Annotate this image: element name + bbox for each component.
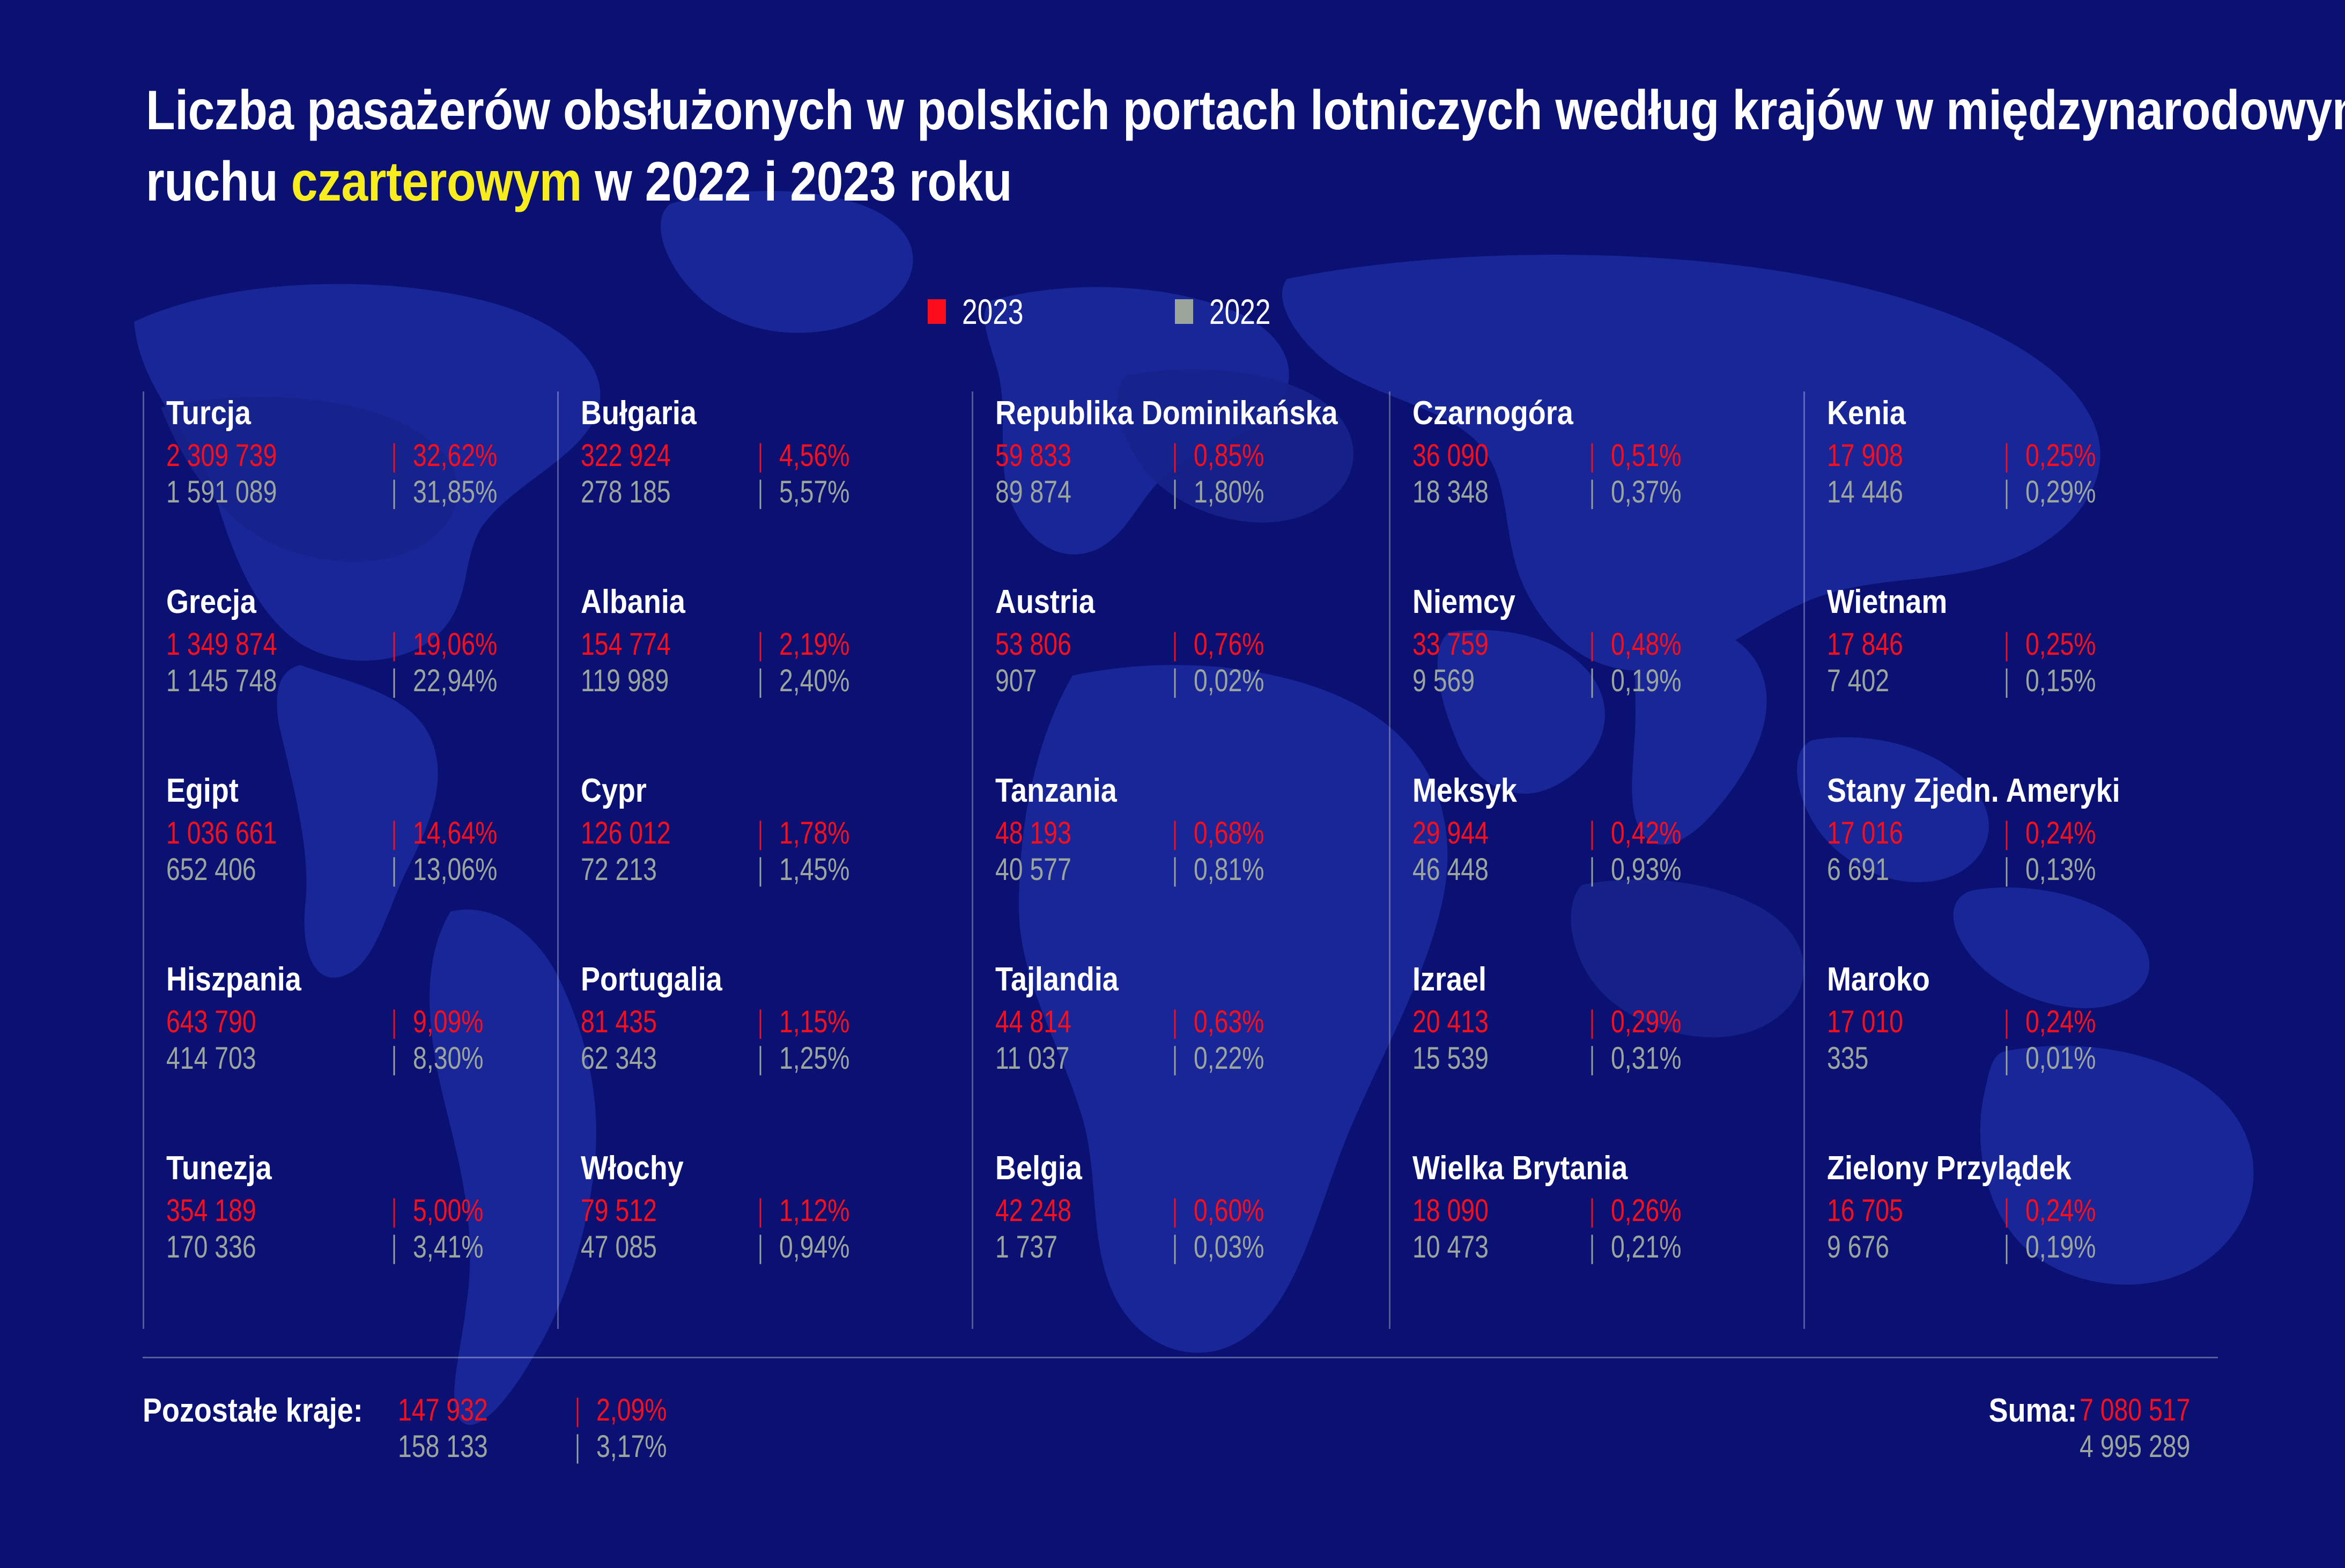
value-2022: 6 691 [1827, 852, 1956, 888]
value-2022: 40 577 [995, 852, 1124, 888]
value-2023: 17 016 [1827, 815, 1956, 852]
value-2022: 414 703 [166, 1040, 334, 1077]
percent-2023: 0,68% [1194, 815, 1264, 852]
country-row-2022: 10 473 | 0,21% [1412, 1229, 1803, 1266]
percent-2023: 1,78% [779, 815, 850, 852]
value-2022: 1 737 [995, 1229, 1124, 1266]
country-row-2022: 414 703 | 8,30% [166, 1040, 557, 1077]
country-row-2023: 36 090 | 0,51% [1412, 438, 1803, 474]
country-name: Niemcy [1412, 586, 1752, 619]
separator: | [1995, 474, 2018, 511]
value-2023: 354 189 [166, 1193, 334, 1229]
percent-2022: 3,17% [596, 1429, 667, 1465]
percent-2022: 0,01% [2025, 1040, 2096, 1077]
percent-2022: 0,22% [1194, 1040, 1264, 1077]
percent-2023: 0,24% [2025, 815, 2096, 852]
other-countries-row-2023: 147 932 | 2,09% [398, 1392, 684, 1429]
percent-2023: 0,24% [2025, 1004, 2096, 1040]
country-row-2023: 42 248 | 0,60% [995, 1193, 1389, 1229]
value-2023: 18 090 [1412, 1193, 1541, 1229]
other-countries-row-2022: 158 133 | 3,17% [398, 1429, 684, 1465]
separator: | [1995, 438, 2018, 474]
country-column-2: Bułgaria 322 924 | 4,56% 278 185 | 5,57%… [557, 397, 972, 1341]
percent-2023: 19,06% [413, 626, 497, 663]
separator: | [1581, 1193, 1603, 1229]
value-2023: 81 435 [581, 1004, 709, 1040]
value-2023: 1 036 661 [166, 815, 334, 852]
country-name: Meksyk [1412, 774, 1752, 808]
separator: | [1995, 1004, 2018, 1040]
title-line-2: ruchu czarterowym w 2022 i 2023 roku [146, 146, 1944, 218]
value-2023: 147 932 [398, 1392, 527, 1429]
separator: | [749, 663, 772, 699]
separator: | [566, 1392, 589, 1429]
value-2022: 47 085 [581, 1229, 709, 1266]
percent-2023: 14,64% [413, 815, 497, 852]
percent-2022: 0,13% [2025, 852, 2096, 888]
country-row-2022: 89 874 | 1,80% [995, 474, 1389, 511]
percent-2022: 0,19% [1611, 663, 1682, 699]
country-name: Bułgaria [581, 397, 921, 430]
country-entry-tanzania: Tanzania 48 193 | 0,68% 40 577 | 0,81% [995, 774, 1389, 963]
value-2023: 33 759 [1412, 626, 1541, 663]
value-2023: 42 248 [995, 1193, 1124, 1229]
percent-2022: 31,85% [413, 474, 497, 511]
value-2023: 17 908 [1827, 438, 1956, 474]
country-entry-grecja: Grecja 1 349 874 | 19,06% 1 145 748 | 22… [166, 586, 557, 774]
other-countries-label: Pozostałe kraje: [143, 1392, 363, 1429]
separator: | [1581, 663, 1603, 699]
percent-2023: 2,19% [779, 626, 850, 663]
separator: | [383, 1040, 405, 1077]
country-name: Stany Zjedn. Ameryki [1827, 774, 2167, 808]
country-entry-niemcy: Niemcy 33 759 | 0,48% 9 569 | 0,19% [1412, 586, 1803, 774]
percent-2022: 13,06% [413, 852, 497, 888]
percent-2022: 0,02% [1194, 663, 1264, 699]
percent-2022: 0,37% [1611, 474, 1682, 511]
value-2023: 48 193 [995, 815, 1124, 852]
country-row-2023: 20 413 | 0,29% [1412, 1004, 1803, 1040]
country-entry-wlochy: Włochy 79 512 | 1,12% 47 085 | 0,94% [581, 1152, 972, 1341]
value-2022: 278 185 [581, 474, 709, 511]
country-name: Tunezja [166, 1152, 506, 1185]
country-entry-tajlandia: Tajlandia 44 814 | 0,63% 11 037 | 0,22% [995, 963, 1389, 1152]
legend-swatch-2023-icon [928, 299, 946, 324]
country-name: Egipt [166, 774, 506, 808]
percent-2022: 22,94% [413, 663, 497, 699]
percent-2023: 0,26% [1611, 1193, 1682, 1229]
country-name: Belgia [995, 1152, 1337, 1185]
country-name: Maroko [1827, 963, 2167, 996]
country-row-2022: 40 577 | 0,81% [995, 852, 1389, 888]
separator: | [383, 1193, 405, 1229]
separator: | [1164, 1004, 1186, 1040]
country-entry-austria: Austria 53 806 | 0,76% 907 | 0,02% [995, 586, 1389, 774]
country-row-2022: 72 213 | 1,45% [581, 852, 972, 888]
value-2022: 158 133 [398, 1429, 527, 1465]
country-name: Grecja [166, 586, 506, 619]
separator: | [1164, 1040, 1186, 1077]
country-row-2022: 907 | 0,02% [995, 663, 1389, 699]
separator: | [1164, 1229, 1186, 1266]
footer-divider [143, 1357, 2218, 1358]
percent-2022: 0,21% [1611, 1229, 1682, 1266]
separator: | [1995, 1193, 2018, 1229]
country-entry-albania: Albania 154 774 | 2,19% 119 989 | 2,40% [581, 586, 972, 774]
separator: | [1581, 626, 1603, 663]
page-title: Liczba pasażerów obsłużonych w polskich … [146, 75, 2237, 218]
separator: | [383, 815, 405, 852]
percent-2023: 1,15% [779, 1004, 850, 1040]
country-row-2023: 53 806 | 0,76% [995, 626, 1389, 663]
percent-2023: 0,76% [1194, 626, 1264, 663]
other-countries-block: Pozostałe kraje: 147 932 | 2,09% 158 133… [143, 1392, 685, 1466]
value-2022: 72 213 [581, 852, 709, 888]
country-row-2022: 47 085 | 0,94% [581, 1229, 972, 1266]
country-name: Portugalia [581, 963, 921, 996]
separator: | [1995, 852, 2018, 888]
total-row-2023: 7 080 517 [2080, 1392, 2218, 1429]
value-2022: 170 336 [166, 1229, 334, 1266]
country-name: Turcja [166, 397, 506, 430]
country-entry-egipt: Egipt 1 036 661 | 14,64% 652 406 | 13,06… [166, 774, 557, 963]
value-2023: 20 413 [1412, 1004, 1541, 1040]
legend-swatch-2022-icon [1175, 299, 1193, 324]
country-name: Austria [995, 586, 1337, 619]
separator: | [1581, 1229, 1603, 1266]
country-entry-stany-zjedn-ameryki: Stany Zjedn. Ameryki 17 016 | 0,24% 6 69… [1827, 774, 2218, 963]
percent-2022: 0,31% [1611, 1040, 1682, 1077]
country-row-2022: 11 037 | 0,22% [995, 1040, 1389, 1077]
separator: | [1581, 852, 1603, 888]
country-entry-maroko: Maroko 17 010 | 0,24% 335 | 0,01% [1827, 963, 2218, 1152]
percent-2022: 0,94% [779, 1229, 850, 1266]
separator: | [1581, 1040, 1603, 1077]
percent-2023: 5,00% [413, 1193, 484, 1229]
separator: | [383, 626, 405, 663]
country-row-2022: 335 | 0,01% [1827, 1040, 2218, 1077]
country-row-2023: 1 349 874 | 19,06% [166, 626, 557, 663]
country-column-5: Kenia 17 908 | 0,25% 14 446 | 0,29% Wiet… [1803, 397, 2218, 1341]
country-entry-cypr: Cypr 126 012 | 1,78% 72 213 | 1,45% [581, 774, 972, 963]
country-entry-belgia: Belgia 42 248 | 0,60% 1 737 | 0,03% [995, 1152, 1389, 1341]
country-name: Kenia [1827, 397, 2167, 430]
separator: | [383, 852, 405, 888]
percent-2022: 2,40% [779, 663, 850, 699]
country-row-2023: 17 010 | 0,24% [1827, 1004, 2218, 1040]
separator: | [383, 663, 405, 699]
separator: | [1995, 626, 2018, 663]
percent-2023: 0,85% [1194, 438, 1264, 474]
separator: | [749, 438, 772, 474]
percent-2023: 0,48% [1611, 626, 1682, 663]
total-block: Suma: 7 080 517 4 995 289 [1976, 1392, 2218, 1466]
total-label: Suma: [1989, 1392, 2077, 1429]
country-row-2022: 62 343 | 1,25% [581, 1040, 972, 1077]
total-row-2022: 4 995 289 [2080, 1429, 2218, 1465]
footer: Pozostałe kraje: 147 932 | 2,09% 158 133… [143, 1392, 2218, 1466]
country-row-2022: 9 569 | 0,19% [1412, 663, 1803, 699]
country-row-2022: 6 691 | 0,13% [1827, 852, 2218, 888]
percent-2023: 0,60% [1194, 1193, 1264, 1229]
country-row-2022: 15 539 | 0,31% [1412, 1040, 1803, 1077]
country-row-2023: 2 309 739 | 32,62% [166, 438, 557, 474]
percent-2022: 1,45% [779, 852, 850, 888]
separator: | [1164, 1193, 1186, 1229]
value-2022: 18 348 [1412, 474, 1541, 511]
value-2023: 79 512 [581, 1193, 709, 1229]
total-value-2023: 7 080 517 [2080, 1392, 2190, 1429]
legend-label-2023: 2023 [962, 294, 1024, 329]
country-row-2023: 126 012 | 1,78% [581, 815, 972, 852]
country-row-2022: 1 145 748 | 22,94% [166, 663, 557, 699]
value-2023: 154 774 [581, 626, 709, 663]
country-row-2023: 17 846 | 0,25% [1827, 626, 2218, 663]
percent-2023: 0,51% [1611, 438, 1682, 474]
percent-2022: 0,29% [2025, 474, 2096, 511]
separator: | [383, 1229, 405, 1266]
value-2022: 10 473 [1412, 1229, 1541, 1266]
value-2023: 643 790 [166, 1004, 334, 1040]
country-name: Zielony Przylądek [1827, 1152, 2167, 1185]
country-row-2023: 33 759 | 0,48% [1412, 626, 1803, 663]
country-entry-hiszpania: Hiszpania 643 790 | 9,09% 414 703 | 8,30… [166, 963, 557, 1152]
percent-2023: 0,42% [1611, 815, 1682, 852]
value-2022: 14 446 [1827, 474, 1956, 511]
percent-2023: 0,29% [1611, 1004, 1682, 1040]
country-row-2023: 643 790 | 9,09% [166, 1004, 557, 1040]
total-value-2022: 4 995 289 [2080, 1429, 2190, 1465]
percent-2022: 0,03% [1194, 1229, 1264, 1266]
separator: | [749, 1229, 772, 1266]
value-2023: 322 924 [581, 438, 709, 474]
value-2023: 53 806 [995, 626, 1124, 663]
percent-2022: 3,41% [413, 1229, 484, 1266]
value-2022: 1 145 748 [166, 663, 334, 699]
country-entry-turcja: Turcja 2 309 739 | 32,62% 1 591 089 | 31… [166, 397, 557, 586]
country-entry-wietnam: Wietnam 17 846 | 0,25% 7 402 | 0,15% [1827, 586, 2218, 774]
country-entry-portugalia: Portugalia 81 435 | 1,15% 62 343 | 1,25% [581, 963, 972, 1152]
country-row-2023: 154 774 | 2,19% [581, 626, 972, 663]
value-2022: 11 037 [995, 1040, 1124, 1077]
value-2022: 907 [995, 663, 1124, 699]
value-2022: 652 406 [166, 852, 334, 888]
title-line-2-part-b: w 2022 i 2023 roku [582, 151, 1012, 213]
value-2023: 2 309 739 [166, 438, 334, 474]
percent-2023: 2,09% [596, 1392, 667, 1429]
separator: | [749, 852, 772, 888]
country-row-2023: 48 193 | 0,68% [995, 815, 1389, 852]
separator: | [749, 474, 772, 511]
value-2022: 119 989 [581, 663, 709, 699]
country-row-2022: 9 676 | 0,19% [1827, 1229, 2218, 1266]
value-2022: 7 402 [1827, 663, 1956, 699]
country-row-2022: 7 402 | 0,15% [1827, 663, 2218, 699]
country-name: Czarnogóra [1412, 397, 1752, 430]
country-entry-kenia: Kenia 17 908 | 0,25% 14 446 | 0,29% [1827, 397, 2218, 586]
chart-legend: 2023 2022 [928, 294, 1288, 329]
country-name: Albania [581, 586, 921, 619]
country-row-2023: 1 036 661 | 14,64% [166, 815, 557, 852]
country-entry-tunezja: Tunezja 354 189 | 5,00% 170 336 | 3,41% [166, 1152, 557, 1341]
percent-2022: 0,15% [2025, 663, 2096, 699]
percent-2023: 1,12% [779, 1193, 850, 1229]
percent-2023: 9,09% [413, 1004, 484, 1040]
country-row-2023: 29 944 | 0,42% [1412, 815, 1803, 852]
country-entry-meksyk: Meksyk 29 944 | 0,42% 46 448 | 0,93% [1412, 774, 1803, 963]
separator: | [383, 474, 405, 511]
country-row-2023: 81 435 | 1,15% [581, 1004, 972, 1040]
country-column-3: Republika Dominikańska 59 833 | 0,85% 89… [972, 397, 1389, 1341]
percent-2022: 0,81% [1194, 852, 1264, 888]
country-entry-izrael: Izrael 20 413 | 0,29% 15 539 | 0,31% [1412, 963, 1803, 1152]
country-entry-wielka-brytania: Wielka Brytania 18 090 | 0,26% 10 473 | … [1412, 1152, 1803, 1341]
country-row-2023: 44 814 | 0,63% [995, 1004, 1389, 1040]
value-2022: 15 539 [1412, 1040, 1541, 1077]
other-countries-values: 147 932 | 2,09% 158 133 | 3,17% [398, 1392, 684, 1466]
title-line-1: Liczba pasażerów obsłużonych w polskich … [146, 75, 1944, 146]
country-entry-czarnogora: Czarnogóra 36 090 | 0,51% 18 348 | 0,37% [1412, 397, 1803, 586]
separator: | [1995, 1229, 2018, 1266]
country-row-2023: 59 833 | 0,85% [995, 438, 1389, 474]
separator: | [1581, 438, 1603, 474]
value-2023: 1 349 874 [166, 626, 334, 663]
separator: | [749, 1004, 772, 1040]
country-row-2022: 18 348 | 0,37% [1412, 474, 1803, 511]
percent-2023: 4,56% [779, 438, 850, 474]
value-2022: 1 591 089 [166, 474, 334, 511]
separator: | [1581, 815, 1603, 852]
separator: | [1995, 663, 2018, 699]
country-name: Tajlandia [995, 963, 1337, 996]
value-2022: 46 448 [1412, 852, 1541, 888]
country-row-2022: 652 406 | 13,06% [166, 852, 557, 888]
value-2023: 44 814 [995, 1004, 1124, 1040]
infographic-root: Liczba pasażerów obsłużonych w polskich … [0, 0, 2345, 1568]
country-entry-bulgaria: Bułgaria 322 924 | 4,56% 278 185 | 5,57% [581, 397, 972, 586]
separator: | [1164, 438, 1186, 474]
percent-2022: 5,57% [779, 474, 850, 511]
value-2022: 9 676 [1827, 1229, 1956, 1266]
country-row-2022: 119 989 | 2,40% [581, 663, 972, 699]
separator: | [1995, 1040, 2018, 1077]
value-2023: 17 010 [1827, 1004, 1956, 1040]
separator: | [749, 1040, 772, 1077]
country-entry-zielony-przyladek: Zielony Przylądek 16 705 | 0,24% 9 676 |… [1827, 1152, 2218, 1341]
separator: | [749, 626, 772, 663]
country-name: Wietnam [1827, 586, 2167, 619]
percent-2022: 1,80% [1194, 474, 1264, 511]
country-row-2023: 17 908 | 0,25% [1827, 438, 2218, 474]
separator: | [383, 438, 405, 474]
separator: | [1164, 852, 1186, 888]
country-name: Tanzania [995, 774, 1337, 808]
percent-2022: 8,30% [413, 1040, 484, 1077]
value-2023: 16 705 [1827, 1193, 1956, 1229]
total-values: 7 080 517 4 995 289 [2080, 1392, 2218, 1466]
separator: | [1995, 815, 2018, 852]
percent-2022: 0,19% [2025, 1229, 2096, 1266]
country-row-2023: 79 512 | 1,12% [581, 1193, 972, 1229]
country-row-2023: 354 189 | 5,00% [166, 1193, 557, 1229]
percent-2023: 0,25% [2025, 626, 2096, 663]
separator: | [1164, 663, 1186, 699]
value-2023: 17 846 [1827, 626, 1956, 663]
value-2022: 9 569 [1412, 663, 1541, 699]
value-2022: 62 343 [581, 1040, 709, 1077]
country-row-2023: 18 090 | 0,26% [1412, 1193, 1803, 1229]
country-row-2022: 14 446 | 0,29% [1827, 474, 2218, 511]
country-entry-republika-dominikanska: Republika Dominikańska 59 833 | 0,85% 89… [995, 397, 1389, 586]
percent-2022: 1,25% [779, 1040, 850, 1077]
title-line-2-part-a: ruchu [146, 151, 291, 213]
country-name: Cypr [581, 774, 921, 808]
separator: | [1581, 474, 1603, 511]
value-2023: 29 944 [1412, 815, 1541, 852]
country-row-2023: 16 705 | 0,24% [1827, 1193, 2218, 1229]
country-column-4: Czarnogóra 36 090 | 0,51% 18 348 | 0,37%… [1389, 397, 1803, 1341]
legend-item-2022[interactable]: 2022 [1175, 294, 1288, 329]
separator: | [383, 1004, 405, 1040]
value-2023: 36 090 [1412, 438, 1541, 474]
country-name: Izrael [1412, 963, 1752, 996]
separator: | [1164, 815, 1186, 852]
percent-2023: 0,25% [2025, 438, 2096, 474]
separator: | [749, 815, 772, 852]
country-row-2022: 1 737 | 0,03% [995, 1229, 1389, 1266]
separator: | [749, 1193, 772, 1229]
separator: | [1164, 474, 1186, 511]
country-row-2023: 322 924 | 4,56% [581, 438, 972, 474]
country-name: Republika Dominikańska [995, 397, 1337, 430]
percent-2023: 0,24% [2025, 1193, 2096, 1229]
country-name: Hiszpania [166, 963, 506, 996]
value-2022: 335 [1827, 1040, 1956, 1077]
value-2022: 89 874 [995, 474, 1124, 511]
legend-label-2022: 2022 [1209, 294, 1271, 329]
country-grid: Turcja 2 309 739 | 32,62% 1 591 089 | 31… [143, 397, 2218, 1341]
separator: | [1581, 1004, 1603, 1040]
country-row-2022: 46 448 | 0,93% [1412, 852, 1803, 888]
country-row-2022: 278 185 | 5,57% [581, 474, 972, 511]
country-name: Wielka Brytania [1412, 1152, 1752, 1185]
percent-2022: 0,93% [1611, 852, 1682, 888]
percent-2023: 32,62% [413, 438, 497, 474]
separator: | [566, 1429, 589, 1465]
country-row-2023: 17 016 | 0,24% [1827, 815, 2218, 852]
percent-2023: 0,63% [1194, 1004, 1264, 1040]
country-name: Włochy [581, 1152, 921, 1185]
value-2023: 126 012 [581, 815, 709, 852]
separator: | [1164, 626, 1186, 663]
legend-item-2023[interactable]: 2023 [928, 294, 1041, 329]
country-row-2022: 170 336 | 3,41% [166, 1229, 557, 1266]
value-2023: 59 833 [995, 438, 1124, 474]
country-row-2022: 1 591 089 | 31,85% [166, 474, 557, 511]
title-highlight-czarterowym: czarterowym [291, 151, 582, 213]
country-column-1: Turcja 2 309 739 | 32,62% 1 591 089 | 31… [143, 397, 557, 1341]
